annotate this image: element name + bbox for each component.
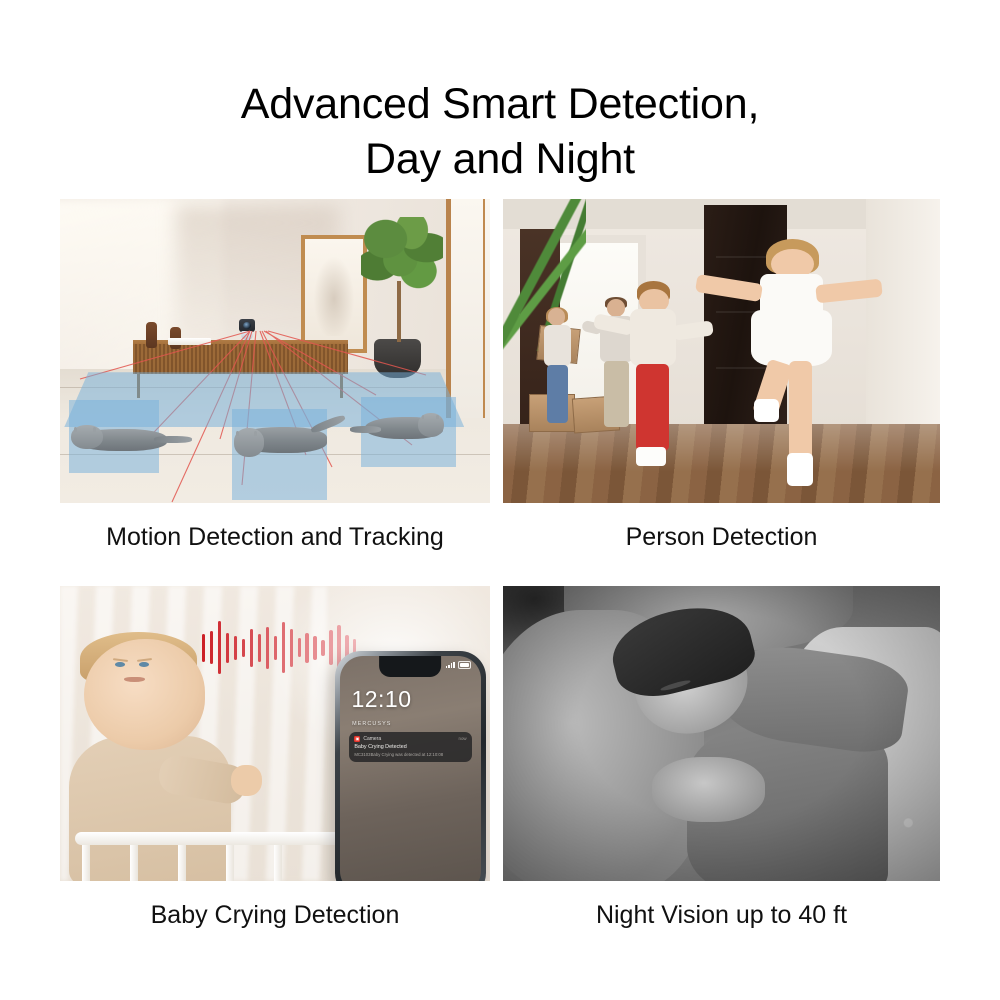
feature-card-night-vision: Night Vision up to 40 ft: [503, 586, 933, 930]
notification-body: MC3103Baby Crying was detected at 12:10:…: [354, 752, 466, 757]
boy-sweater: [630, 309, 676, 366]
cat-left: [73, 418, 168, 461]
waveform-bar: [298, 638, 301, 657]
cat-tail: [350, 426, 381, 433]
woman-torso: [544, 325, 571, 367]
girl-sock-raised: [754, 399, 779, 422]
waveform-bar: [258, 634, 261, 663]
feature-card-baby-crying-detection: 12:10 MERCUSYS ▣ Camera now Baby Crying …: [60, 586, 490, 930]
woman-legs: [547, 365, 567, 423]
motion-detection-image: [60, 199, 490, 503]
cat-right: [365, 406, 442, 449]
page-title-line-2: Day and Night: [0, 132, 1000, 187]
baby-head: [84, 639, 205, 750]
feature-card-person-detection: Person Detection: [503, 199, 933, 552]
hall-pillar: [866, 199, 940, 448]
signal-bars-icon: [446, 662, 455, 668]
phone-notch: [380, 656, 442, 677]
feature-grid: Motion Detection and Tracking: [60, 199, 940, 909]
waveform-bar: [218, 621, 221, 674]
woman-head: [548, 308, 565, 325]
wood-floor: [503, 424, 940, 503]
cat-head: [71, 425, 103, 450]
girl-dress-skirt: [751, 310, 833, 366]
waveform-bar: [266, 627, 269, 669]
girl-leg-standing: [789, 361, 812, 463]
entryway-scene: [503, 199, 940, 503]
night-vision-image: [503, 586, 940, 881]
boy-red-pants: [636, 364, 669, 451]
smartphone-mockup: 12:10 MERCUSYS ▣ Camera now Baby Crying …: [335, 651, 486, 881]
notification-header: ▣ Camera now: [354, 736, 466, 742]
person-girl-running: [735, 239, 849, 494]
push-notification[interactable]: ▣ Camera now Baby Crying Detected MC3103…: [349, 732, 471, 762]
waveform-bar: [329, 630, 332, 665]
feature-card-motion-detection: Motion Detection and Tracking: [60, 199, 490, 552]
waveform-bar: [321, 640, 324, 656]
cat-head: [418, 413, 444, 438]
phone-lockscreen-clock: 12:10: [351, 687, 411, 712]
cat-head: [234, 428, 265, 456]
person-detection-image: [503, 199, 940, 503]
waveform-bar: [250, 629, 253, 667]
feature-caption-motion-detection: Motion Detection and Tracking: [60, 522, 490, 552]
cat-center: [236, 415, 326, 464]
notification-title: Baby Crying Detected: [354, 744, 466, 750]
waveform-bar: [282, 622, 285, 673]
waveform-bar: [313, 636, 316, 659]
waveform-bar: [226, 633, 229, 664]
battery-icon: [458, 661, 471, 669]
waveform-bar: [210, 631, 213, 664]
waveform-bar: [290, 629, 293, 666]
audio-waveform-icon: [202, 621, 357, 674]
girl-sock-standing: [787, 453, 813, 486]
baby-crying-detection-image: 12:10 MERCUSYS ▣ Camera now Baby Crying …: [60, 586, 490, 881]
waveform-bar: [274, 636, 277, 660]
feature-caption-baby-crying-detection: Baby Crying Detection: [60, 900, 490, 930]
waveform-bar: [242, 639, 245, 657]
feature-caption-night-vision: Night Vision up to 40 ft: [503, 900, 940, 930]
page-title: Advanced Smart Detection, Day and Night: [0, 77, 1000, 187]
notification-time: now: [459, 736, 467, 741]
person-boy-running: [617, 281, 691, 469]
night-vision-scene: [503, 586, 940, 881]
crib-rail: [75, 832, 352, 844]
feature-caption-person-detection: Person Detection: [503, 522, 940, 552]
boy-socks: [636, 447, 666, 466]
person-woman: [538, 308, 577, 424]
notification-app-group: MERCUSYS: [352, 721, 391, 727]
crib: [60, 798, 352, 881]
image-vignette: [503, 586, 940, 881]
waveform-bar: [305, 633, 308, 664]
camera-app-icon: ▣: [354, 736, 360, 742]
phone-status-bar: [446, 661, 471, 669]
waveform-bar: [234, 636, 237, 659]
cat-tail: [154, 436, 192, 443]
notification-source: Camera: [363, 736, 455, 742]
baby-hand: [231, 765, 261, 796]
phone-screen: 12:10 MERCUSYS ▣ Camera now Baby Crying …: [340, 656, 481, 881]
living-room-scene: [60, 199, 490, 503]
nursery-scene: 12:10 MERCUSYS ▣ Camera now Baby Crying …: [60, 586, 490, 881]
waveform-bar: [202, 634, 205, 662]
page-title-line-1: Advanced Smart Detection,: [0, 77, 1000, 132]
marketing-feature-page: Advanced Smart Detection, Day and Night: [0, 0, 1000, 1000]
